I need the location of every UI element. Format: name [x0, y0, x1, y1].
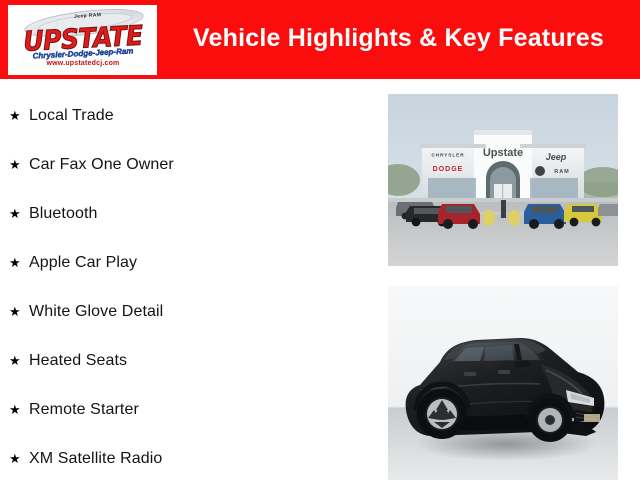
feature-label: XM Satellite Radio	[29, 450, 162, 468]
vehicle-photo[interactable]	[388, 286, 618, 480]
feature-label: Apple Car Play	[29, 254, 137, 272]
star-icon: ★	[9, 354, 29, 367]
flyer-page: Jeep RAM UPSTATE Chrysler-Dodge-Jeep-Ram…	[0, 0, 640, 480]
logo-website-url: www.upstatedcj.com	[15, 60, 151, 67]
dealership-photo[interactable]: Upstate CHRYSLER DODGE Jeep RAM	[388, 94, 618, 266]
svg-text:CHRYSLER: CHRYSLER	[431, 153, 464, 158]
page-title: Vehicle Highlights & Key Features	[157, 0, 640, 79]
list-item: ★ Bluetooth	[0, 189, 380, 238]
content-area: ★ Local Trade ★ Car Fax One Owner ★ Blue…	[0, 79, 640, 480]
star-icon: ★	[9, 256, 29, 269]
feature-label: White Glove Detail	[29, 303, 163, 321]
list-item: ★ Car Fax One Owner	[0, 140, 380, 189]
svg-text:DODGE: DODGE	[433, 166, 464, 173]
list-item: ★ White Glove Detail	[0, 287, 380, 336]
feature-list: ★ Local Trade ★ Car Fax One Owner ★ Blue…	[0, 79, 380, 483]
star-icon: ★	[9, 452, 29, 465]
svg-text:Jeep: Jeep	[546, 152, 567, 162]
list-item: ★ Remote Starter	[0, 385, 380, 434]
star-icon: ★	[9, 403, 29, 416]
feature-label: Local Trade	[29, 107, 114, 125]
star-icon: ★	[9, 109, 29, 122]
feature-label: Heated Seats	[29, 352, 127, 370]
dealership-photo-graphic: Upstate CHRYSLER DODGE Jeep RAM	[388, 94, 618, 266]
star-icon: ★	[9, 305, 29, 318]
list-item: ★ XM Satellite Radio	[0, 434, 380, 483]
svg-text:RAM: RAM	[554, 169, 570, 175]
feature-label: Bluetooth	[29, 205, 98, 223]
feature-label: Car Fax One Owner	[29, 156, 174, 174]
header-bar: Jeep RAM UPSTATE Chrysler-Dodge-Jeep-Ram…	[0, 0, 640, 79]
dealer-logo[interactable]: Jeep RAM UPSTATE Chrysler-Dodge-Jeep-Ram…	[8, 5, 157, 75]
vehicle-photo-graphic	[388, 286, 618, 480]
list-item: ★ Heated Seats	[0, 336, 380, 385]
feature-label: Remote Starter	[29, 401, 139, 419]
svg-text:Upstate: Upstate	[483, 147, 523, 159]
star-icon: ★	[9, 207, 29, 220]
dealer-logo-inner: Jeep RAM UPSTATE Chrysler-Dodge-Jeep-Ram…	[8, 5, 157, 75]
list-item: ★ Apple Car Play	[0, 238, 380, 287]
star-icon: ★	[9, 158, 29, 171]
list-item: ★ Local Trade	[0, 91, 380, 140]
